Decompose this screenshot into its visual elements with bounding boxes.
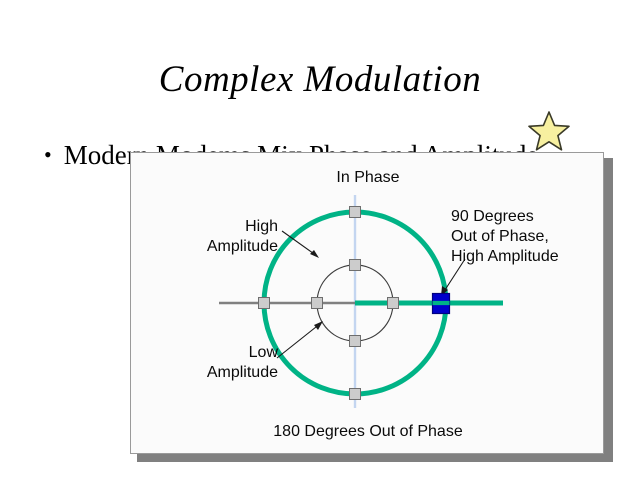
handle-inner-right[interactable] xyxy=(388,298,399,309)
constellation-diagram-panel[interactable]: In Phase 180 Degrees Out of Phase High A… xyxy=(130,152,604,454)
handle-inner-left[interactable] xyxy=(312,298,323,309)
label-ninety-degrees-out-of-phase: 90 Degrees Out of Phase, High Amplitude xyxy=(451,207,604,267)
arrowhead-low-amplitude xyxy=(314,321,323,330)
label-low-amplitude: Low Amplitude xyxy=(135,343,278,383)
handle-outer-top[interactable] xyxy=(350,207,361,218)
leader-line-low-amplitude xyxy=(277,323,321,358)
bullet-marker-icon: • xyxy=(44,144,52,166)
label-180-degrees-out-of-phase: 180 Degrees Out of Phase xyxy=(131,422,604,442)
handle-inner-bottom[interactable] xyxy=(350,336,361,347)
handle-outer-left[interactable] xyxy=(259,298,270,309)
page-title: Complex Modulation xyxy=(0,58,640,102)
star-icon xyxy=(527,110,571,152)
arrowhead-high-amplitude xyxy=(310,250,319,258)
handle-inner-top[interactable] xyxy=(350,260,361,271)
handle-outer-bottom[interactable] xyxy=(350,389,361,400)
constellation-diagram-graphic xyxy=(131,153,604,454)
label-high-amplitude: High Amplitude xyxy=(143,217,278,257)
label-in-phase: In Phase xyxy=(131,168,604,188)
presentation-slide: Complex Modulation • Modern Modems Mix P… xyxy=(0,0,640,480)
